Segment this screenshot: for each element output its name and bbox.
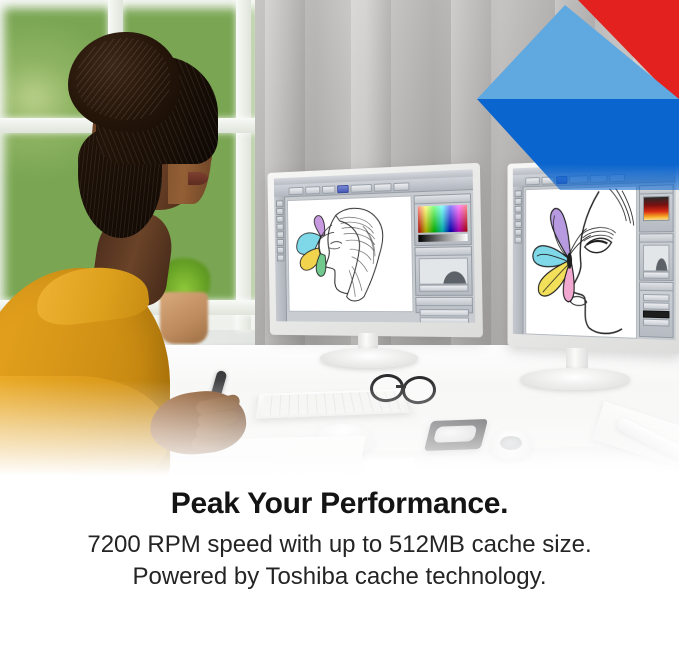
tool-button[interactable] bbox=[515, 237, 522, 244]
histogram-graph bbox=[419, 258, 469, 285]
tool-button[interactable] bbox=[277, 231, 284, 238]
panel-title-bar bbox=[415, 247, 471, 256]
monitor-left bbox=[267, 163, 483, 338]
toolbar-chip[interactable] bbox=[289, 187, 304, 195]
color-picker-panel[interactable] bbox=[414, 193, 472, 246]
tool-button[interactable] bbox=[515, 221, 522, 228]
tool-button[interactable] bbox=[276, 200, 283, 207]
artwork-face-butterfly-right bbox=[525, 185, 637, 338]
tool-button[interactable] bbox=[515, 206, 522, 213]
panel-title-bar bbox=[416, 298, 472, 306]
layer-row[interactable] bbox=[420, 317, 469, 322]
gradient-swatch[interactable] bbox=[643, 196, 669, 221]
tool-button[interactable] bbox=[277, 247, 284, 254]
tool-button[interactable] bbox=[276, 224, 283, 231]
color-swatch-grid[interactable] bbox=[418, 205, 468, 233]
toolbar-chip[interactable] bbox=[569, 175, 588, 184]
monitor-right-screen bbox=[513, 161, 676, 340]
canvas-right[interactable] bbox=[525, 185, 637, 338]
color-swatch-strip[interactable] bbox=[418, 234, 467, 242]
headline: Peak Your Performance. bbox=[0, 478, 679, 523]
toolbar-chip[interactable] bbox=[393, 182, 409, 191]
tool-button[interactable] bbox=[276, 208, 283, 215]
toolbar-chip[interactable] bbox=[351, 184, 372, 193]
panel-title-bar bbox=[415, 194, 470, 204]
layer-row[interactable] bbox=[643, 294, 669, 302]
app-tool-palette[interactable] bbox=[274, 196, 287, 321]
panel-title-bar bbox=[640, 234, 673, 243]
tool-button[interactable] bbox=[277, 239, 284, 246]
layers-panel[interactable] bbox=[415, 297, 473, 314]
tool-button[interactable] bbox=[515, 198, 522, 205]
monitor-left-base bbox=[320, 348, 418, 368]
toolbar-chip[interactable] bbox=[542, 176, 555, 184]
level-slider[interactable] bbox=[419, 284, 468, 291]
product-ad-image: Peak Your Performance. 7200 RPM speed wi… bbox=[0, 0, 679, 658]
desk-puck-container[interactable] bbox=[490, 428, 532, 460]
subcopy: 7200 RPM speed with up to 512MB cache si… bbox=[0, 523, 679, 601]
panel-title-bar bbox=[640, 185, 673, 194]
toolbar-chip[interactable] bbox=[609, 174, 625, 183]
layer-row[interactable] bbox=[643, 319, 669, 327]
tool-button[interactable] bbox=[277, 255, 284, 262]
artwork-face-butterfly-left bbox=[287, 195, 414, 312]
plant-pot bbox=[160, 292, 208, 344]
toolbar-chip[interactable] bbox=[374, 183, 392, 192]
app-tool-palette[interactable] bbox=[513, 186, 524, 334]
eyeglasses-bridge bbox=[396, 385, 406, 388]
toolbar-chip[interactable] bbox=[590, 174, 607, 183]
monitor-left-screen bbox=[274, 169, 476, 322]
level-slider[interactable] bbox=[643, 271, 669, 278]
layer-row[interactable] bbox=[643, 302, 669, 310]
tool-button[interactable] bbox=[515, 190, 522, 197]
monitor-right bbox=[508, 156, 679, 355]
toolbar-chip-active[interactable] bbox=[556, 176, 567, 184]
histogram-panel[interactable] bbox=[639, 233, 674, 281]
tool-button[interactable] bbox=[515, 229, 522, 236]
woman-finger bbox=[192, 437, 222, 450]
toolbar-chip[interactable] bbox=[305, 186, 320, 194]
woman-hair-bun bbox=[68, 32, 180, 132]
tool-button[interactable] bbox=[276, 216, 283, 223]
canvas-left[interactable] bbox=[287, 195, 414, 312]
gradient-panel[interactable] bbox=[639, 184, 674, 232]
tool-button[interactable] bbox=[515, 213, 522, 220]
monitor-right-base bbox=[520, 368, 630, 390]
toolbar-chip-active[interactable] bbox=[337, 185, 349, 193]
layer-color-swatch[interactable] bbox=[643, 310, 669, 318]
layer-row[interactable] bbox=[420, 309, 469, 316]
histogram-panel[interactable] bbox=[414, 246, 472, 296]
hero-photo bbox=[0, 0, 679, 500]
copy-block: Peak Your Performance. 7200 RPM speed wi… bbox=[0, 478, 679, 602]
panel-title-bar bbox=[640, 283, 673, 292]
layers-panel[interactable] bbox=[639, 282, 674, 339]
desk-tray[interactable] bbox=[424, 419, 488, 451]
toolbar-chip[interactable] bbox=[525, 177, 539, 185]
window-mullion-vertical bbox=[236, 0, 251, 330]
toolbar-chip[interactable] bbox=[322, 186, 335, 194]
histogram-graph bbox=[643, 245, 669, 272]
